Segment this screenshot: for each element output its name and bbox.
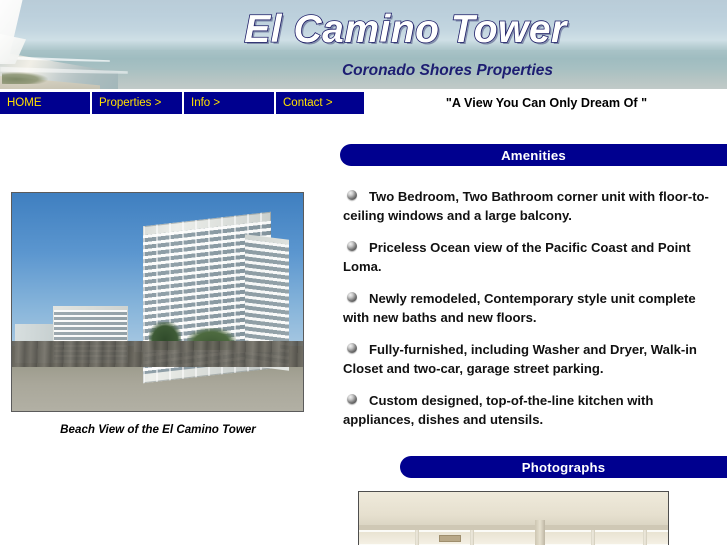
interior-ceiling bbox=[359, 492, 668, 529]
page-root: El Camino Tower Coronado Shores Properti… bbox=[0, 0, 727, 545]
amenity-item: Custom designed, top-of-the-line kitchen… bbox=[343, 391, 724, 429]
amenity-text: Two Bedroom, Two Bathroom corner unit wi… bbox=[343, 189, 709, 223]
sphere-bullet-icon bbox=[347, 394, 357, 404]
amenity-text: Fully-furnished, including Washer and Dr… bbox=[343, 342, 697, 376]
amenity-item: Newly remodeled, Contemporary style unit… bbox=[343, 289, 724, 327]
amenities-list: Two Bedroom, Two Bathroom corner unit wi… bbox=[343, 187, 724, 442]
amenity-item: Two Bedroom, Two Bathroom corner unit wi… bbox=[343, 187, 724, 225]
interior-window-mullion bbox=[591, 530, 595, 545]
amenity-item: Priceless Ocean view of the Pacific Coas… bbox=[343, 238, 724, 276]
amenity-text: Newly remodeled, Contemporary style unit… bbox=[343, 291, 696, 325]
interior-wall-vent bbox=[439, 535, 461, 542]
banner-foliage bbox=[2, 72, 48, 84]
page-title: El Camino Tower bbox=[42, 8, 727, 52]
interior-window-header bbox=[359, 532, 668, 544]
sphere-bullet-icon bbox=[347, 241, 357, 251]
interior-corner-windows-photo[interactable] bbox=[358, 491, 669, 545]
nav-item-home[interactable]: HOME bbox=[0, 92, 92, 114]
amenities-section-header: Amenities bbox=[340, 144, 727, 166]
beach-view-photo[interactable] bbox=[11, 192, 304, 412]
main-navigation: HOME Properties > Info > Contact > bbox=[0, 92, 366, 114]
sphere-bullet-icon bbox=[347, 190, 357, 200]
left-column: Beach View of the El Camino Tower bbox=[0, 115, 330, 545]
amenity-item: Fully-furnished, including Washer and Dr… bbox=[343, 340, 724, 378]
nav-item-info[interactable]: Info > bbox=[184, 92, 276, 114]
nav-item-properties[interactable]: Properties > bbox=[92, 92, 184, 114]
interior-window-mullion bbox=[643, 530, 647, 545]
sphere-bullet-icon bbox=[347, 343, 357, 353]
nav-item-contact[interactable]: Contact > bbox=[276, 92, 366, 114]
photo-rock-wall bbox=[12, 341, 303, 367]
tagline-text: "A View You Can Only Dream Of " bbox=[366, 91, 727, 115]
photographs-section-header: Photographs bbox=[400, 456, 727, 478]
beach-photo-caption: Beach View of the El Camino Tower bbox=[0, 423, 316, 436]
page-subtitle: Coronado Shores Properties bbox=[84, 62, 727, 80]
sphere-bullet-icon bbox=[347, 292, 357, 302]
interior-corner-post bbox=[535, 520, 545, 545]
interior-window-mullion bbox=[470, 530, 474, 545]
interior-window-mullion bbox=[415, 530, 419, 545]
amenity-text: Custom designed, top-of-the-line kitchen… bbox=[343, 393, 653, 427]
amenity-text: Priceless Ocean view of the Pacific Coas… bbox=[343, 240, 691, 274]
right-column: Amenities Two Bedroom, Two Bathroom corn… bbox=[335, 115, 727, 545]
